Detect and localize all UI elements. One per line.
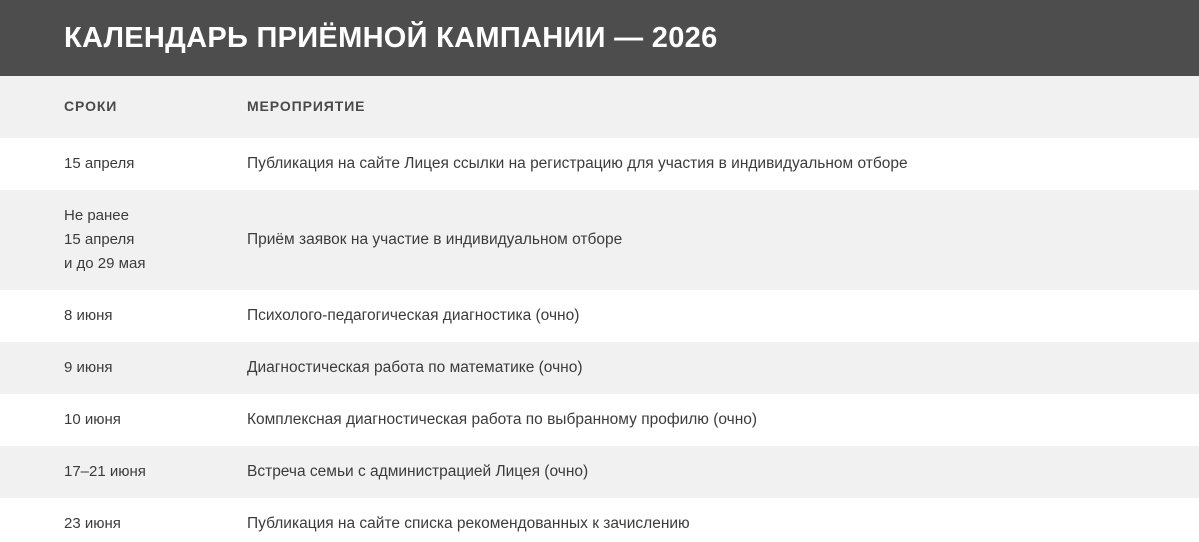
table-row: 23 июняПубликация на сайте списка рекоме… [0,498,1199,542]
table-header-row: СРОКИ МЕРОПРИЯТИЕ [0,76,1199,138]
table-row: 9 июняДиагностическая работа по математи… [0,342,1199,394]
table-cell-date: 10 июня [0,408,247,432]
table-cell-event-text: Комплексная диагностическая работа по вы… [247,409,1175,431]
table-cell-event-text: Приём заявок на участие в индивидуальном… [247,229,1175,251]
table-cell-date: 17–21 июня [0,460,247,484]
table-cell-date: 8 июня [0,304,247,328]
admission-calendar-page: КАЛЕНДАРЬ ПРИЁМНОЙ КАМПАНИИ — 2026 СРОКИ… [0,0,1199,542]
table-cell-date: Не ранее 15 апреля и до 29 мая [0,204,247,276]
table-cell-date-text: 10 июня [64,408,247,432]
table-cell-date-text: 15 апреля [64,152,247,176]
page-header-band: КАЛЕНДАРЬ ПРИЁМНОЙ КАМПАНИИ — 2026 [0,0,1199,76]
table-cell-event-text: Психолого-педагогическая диагностика (оч… [247,305,1175,327]
table-cell-event: Публикация на сайте списка рекомендованн… [247,513,1199,535]
table-cell-date: 15 апреля [0,152,247,176]
page-title: КАЛЕНДАРЬ ПРИЁМНОЙ КАМПАНИИ — 2026 [64,24,718,53]
table-row: Не ранее 15 апреля и до 29 маяПриём заяв… [0,190,1199,290]
table-row: 15 апреляПубликация на сайте Лицея ссылк… [0,138,1199,190]
table-cell-event-text: Встреча семьи с администрацией Лицея (оч… [247,461,1175,483]
table-cell-date: 23 июня [0,512,247,536]
table-cell-date: 9 июня [0,356,247,380]
table-cell-event: Приём заявок на участие в индивидуальном… [247,229,1199,251]
table-cell-event: Комплексная диагностическая работа по вы… [247,409,1199,431]
table-cell-date-text: Не ранее 15 апреля и до 29 мая [64,204,247,276]
table-row: 8 июняПсихолого-педагогическая диагности… [0,290,1199,342]
column-header-event-label: МЕРОПРИЯТИЕ [247,98,365,114]
table-body: 15 апреляПубликация на сайте Лицея ссылк… [0,138,1199,542]
table-cell-event-text: Публикация на сайте Лицея ссылки на реги… [247,153,1175,175]
table-row: 17–21 июняВстреча семьи с администрацией… [0,446,1199,498]
admission-calendar-table: СРОКИ МЕРОПРИЯТИЕ 15 апреляПубликация на… [0,76,1199,542]
table-cell-date-text: 23 июня [64,512,247,536]
table-cell-event: Публикация на сайте Лицея ссылки на реги… [247,153,1199,175]
table-cell-event: Диагностическая работа по математике (оч… [247,357,1199,379]
table-row: 10 июняКомплексная диагностическая работ… [0,394,1199,446]
table-cell-event-text: Публикация на сайте списка рекомендованн… [247,513,1175,535]
table-cell-event: Психолого-педагогическая диагностика (оч… [247,305,1199,327]
column-header-event-cell: МЕРОПРИЯТИЕ [247,98,1199,116]
column-header-date-cell: СРОКИ [0,98,247,116]
table-cell-event: Встреча семьи с администрацией Лицея (оч… [247,461,1199,483]
table-cell-date-text: 8 июня [64,304,247,328]
table-cell-event-text: Диагностическая работа по математике (оч… [247,357,1175,379]
column-header-date-label: СРОКИ [64,98,117,114]
table-cell-date-text: 9 июня [64,356,247,380]
table-cell-date-text: 17–21 июня [64,460,247,484]
